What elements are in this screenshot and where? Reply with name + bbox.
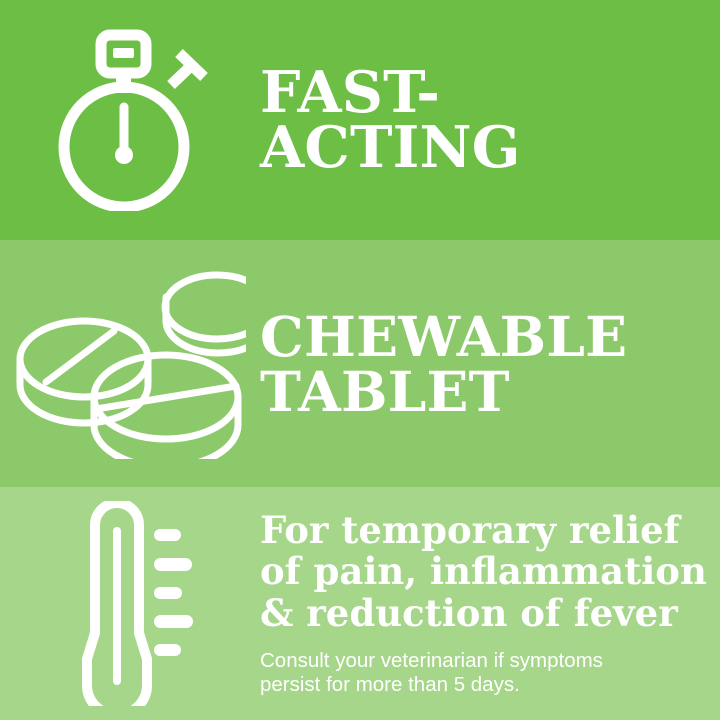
stopwatch-icon-slot <box>0 0 260 240</box>
thermometer-tick-4 <box>154 615 193 628</box>
fast-acting-headline: FAST- ACTING <box>260 65 720 176</box>
chewable-tablets-icon <box>14 269 246 459</box>
thermometer-tick-3 <box>154 587 182 599</box>
thermometer-tick-1 <box>154 529 181 541</box>
thermometer-icon <box>65 501 195 706</box>
fever-relief-headline-line-3: & reduction of fever <box>260 593 720 635</box>
chewable-tablet-headline-line-2: TABLET <box>260 364 720 419</box>
fever-relief-fineprint: Consult your veterinarian if symptoms pe… <box>260 649 720 697</box>
fast-acting-text-slot: FAST- ACTING <box>260 65 720 176</box>
benefit-band-fast-acting: FAST- ACTING <box>0 0 720 240</box>
stopwatch-icon <box>46 29 214 211</box>
thermometer-icon-slot <box>0 487 260 720</box>
fever-relief-fineprint-line-1: Consult your veterinarian if symptoms <box>260 649 720 673</box>
chewable-tablet-headline: CHEWABLE TABLET <box>260 309 720 419</box>
fever-relief-headline-line-2: of pain, inflammation <box>260 551 720 593</box>
thermometer-tick-2 <box>154 558 192 571</box>
product-benefits-panel: FAST- ACTING <box>0 0 720 720</box>
chewable-tablets-icon-slot <box>0 240 260 487</box>
chewable-tablet-headline-line-1: CHEWABLE <box>260 309 720 364</box>
fever-relief-fineprint-line-2: persist for more than 5 days. <box>260 673 720 697</box>
fever-relief-headline-line-1: For temporary relief <box>260 510 720 552</box>
benefit-band-fever-relief: For temporary relief of pain, inflammati… <box>0 487 720 720</box>
fast-acting-headline-line-2: ACTING <box>260 120 720 175</box>
fever-relief-headline: For temporary relief of pain, inflammati… <box>260 510 720 635</box>
benefit-band-chewable-tablet: CHEWABLE TABLET <box>0 240 720 487</box>
thermometer-tick-5 <box>154 644 181 656</box>
fever-relief-text-slot: For temporary relief of pain, inflammati… <box>260 510 720 698</box>
chewable-tablet-text-slot: CHEWABLE TABLET <box>260 309 720 419</box>
fast-acting-headline-line-1: FAST- <box>260 65 720 120</box>
